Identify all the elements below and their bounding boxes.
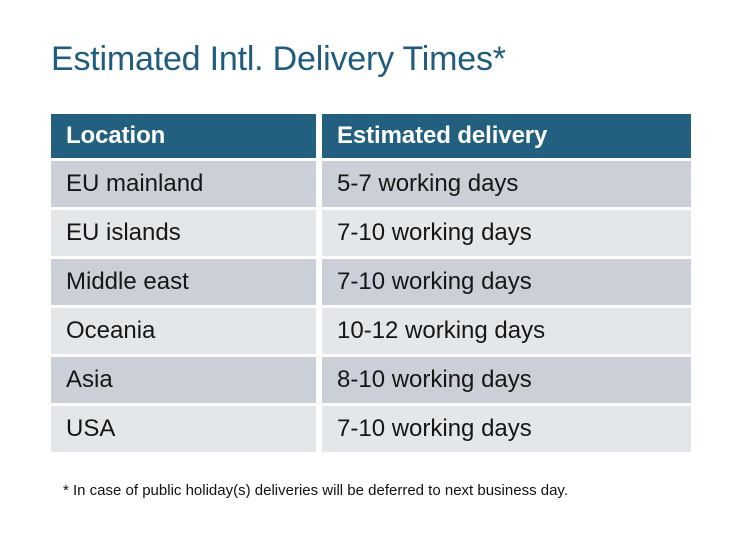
cell-estimated-delivery: 5-7 working days — [322, 161, 691, 207]
footnote-text: * In case of public holiday(s) deliverie… — [63, 481, 568, 501]
table-row: Oceania 10-12 working days — [51, 308, 691, 354]
column-header-estimated-delivery: Estimated delivery — [322, 114, 691, 158]
table-row: EU mainland 5-7 working days — [51, 161, 691, 207]
cell-location: Asia — [51, 357, 316, 403]
table-row: USA 7-10 working days — [51, 406, 691, 452]
cell-estimated-delivery: 7-10 working days — [322, 210, 691, 256]
cell-estimated-delivery: 10-12 working days — [322, 308, 691, 354]
cell-estimated-delivery: 8-10 working days — [322, 357, 691, 403]
column-header-location: Location — [51, 114, 316, 158]
cell-location: EU mainland — [51, 161, 316, 207]
table-row: EU islands 7-10 working days — [51, 210, 691, 256]
page-title: Estimated Intl. Delivery Times* — [51, 38, 506, 80]
table-row: Asia 8-10 working days — [51, 357, 691, 403]
table-header-row: Location Estimated delivery — [51, 114, 691, 158]
cell-location: EU islands — [51, 210, 316, 256]
cell-location: Middle east — [51, 259, 316, 305]
delivery-times-page: Estimated Intl. Delivery Times* Location… — [0, 0, 745, 536]
table-row: Middle east 7-10 working days — [51, 259, 691, 305]
cell-location: Oceania — [51, 308, 316, 354]
cell-estimated-delivery: 7-10 working days — [322, 406, 691, 452]
cell-estimated-delivery: 7-10 working days — [322, 259, 691, 305]
estimated-delivery-table: Location Estimated delivery EU mainland … — [51, 114, 691, 452]
cell-location: USA — [51, 406, 316, 452]
